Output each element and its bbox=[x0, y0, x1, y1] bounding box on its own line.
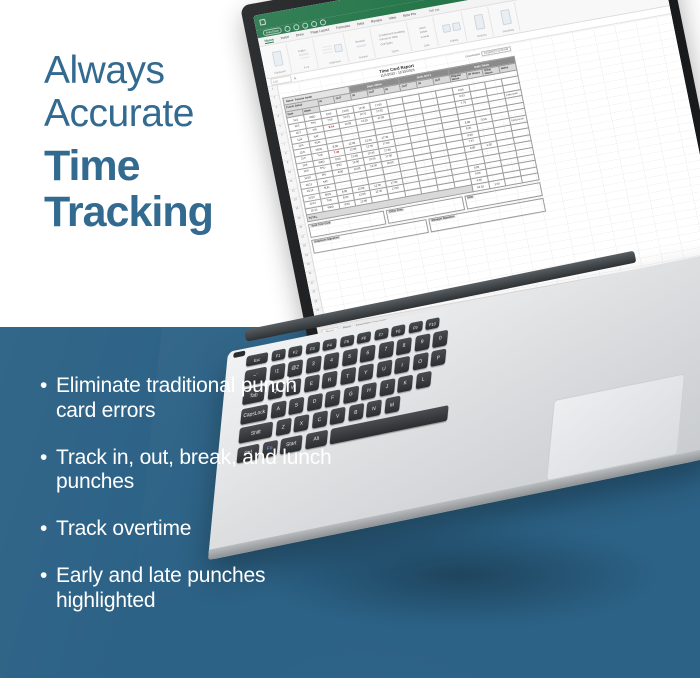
cells-controls: Insert Delete Format bbox=[417, 19, 430, 45]
list-item: • Early and late punches highlighted bbox=[40, 564, 340, 614]
tab-home[interactable]: Home bbox=[264, 37, 274, 44]
bullet-text: Track in, out, break, and lunch punches bbox=[56, 446, 340, 496]
title-bar-left bbox=[259, 18, 266, 25]
number-controls: General bbox=[353, 30, 368, 56]
headline-line-4: Tracking bbox=[44, 189, 304, 235]
key-f5[interactable]: F5 bbox=[339, 335, 354, 348]
promo-graphic: Always Accurate Time Tracking • Eliminat… bbox=[0, 0, 700, 700]
tab-view[interactable]: View bbox=[388, 15, 396, 20]
ribbon-group-label: Styles bbox=[391, 49, 399, 53]
sort-filter-button[interactable] bbox=[442, 23, 451, 32]
total-regular: 84.03 bbox=[472, 182, 490, 191]
ribbon-group-analysis: Analysis bbox=[466, 7, 495, 41]
total-notes bbox=[521, 173, 539, 182]
ribbon-group-alignment: Alignment bbox=[317, 33, 350, 67]
ribbon-group-label: Font bbox=[304, 66, 310, 70]
alignment-controls bbox=[320, 35, 345, 63]
key-9[interactable]: 9 bbox=[414, 333, 430, 352]
key-3[interactable]: 3 bbox=[305, 355, 321, 374]
tab-data[interactable]: Data bbox=[357, 21, 365, 26]
tab-insert[interactable]: Insert bbox=[280, 35, 289, 40]
ribbon-group-label: Editing bbox=[450, 39, 458, 43]
bullet-text: Track overtime bbox=[56, 517, 340, 542]
key-k[interactable]: K bbox=[397, 374, 413, 393]
key-f3[interactable]: F3 bbox=[305, 341, 320, 354]
format-cells-button[interactable]: Format bbox=[421, 34, 430, 38]
number-format-stack[interactable]: General bbox=[355, 40, 366, 48]
key-f6[interactable]: F6 bbox=[357, 331, 372, 344]
bottom-white-strip bbox=[0, 678, 700, 700]
dept-value: Office bbox=[374, 82, 382, 86]
bullet-marker-icon: • bbox=[40, 374, 56, 399]
key-f8[interactable]: F8 bbox=[391, 324, 406, 337]
number-format-buttons[interactable] bbox=[356, 44, 366, 47]
total-time-card-label: Total Time Card bbox=[310, 222, 332, 229]
key-f9[interactable]: F9 bbox=[408, 321, 423, 334]
bullet-text: Eliminate traditional punch card errors bbox=[56, 374, 340, 424]
ribbon-group-label: Sensitivity bbox=[502, 28, 514, 33]
feature-bullet-list: • Eliminate traditional punch card error… bbox=[40, 374, 340, 635]
redo-icon[interactable] bbox=[302, 22, 309, 29]
ideas-button[interactable] bbox=[500, 9, 512, 25]
key-j[interactable]: J bbox=[379, 378, 395, 397]
bullet-text: Early and late punches highlighted bbox=[56, 564, 340, 614]
ribbon-group-label: Analysis bbox=[477, 33, 487, 38]
key-p[interactable]: P bbox=[430, 348, 446, 367]
ribbon-group-number: General Number bbox=[347, 28, 376, 62]
touch-mode-icon[interactable] bbox=[311, 21, 318, 28]
key-h[interactable]: H bbox=[361, 381, 377, 400]
save-icon[interactable] bbox=[284, 25, 291, 32]
ribbon-group-label: Cells bbox=[424, 44, 430, 48]
key-i[interactable]: I bbox=[394, 356, 410, 375]
key-m[interactable]: M bbox=[384, 396, 400, 415]
tab-nitro-pro[interactable]: Nitro Pro bbox=[402, 12, 416, 18]
excel-file-icon bbox=[259, 18, 266, 25]
tab-formulas[interactable]: Formulas bbox=[336, 24, 351, 30]
bullet-marker-icon: • bbox=[40, 517, 56, 542]
undo-icon[interactable] bbox=[293, 24, 300, 31]
key-b[interactable]: B bbox=[348, 403, 364, 422]
headline-line-2: Accurate bbox=[44, 93, 304, 134]
merge-cells-button[interactable] bbox=[334, 43, 343, 52]
headline-line-1: Always bbox=[44, 50, 304, 91]
key-6[interactable]: 6 bbox=[360, 344, 376, 363]
sensitivity-controls bbox=[499, 4, 513, 30]
headline-block: Always Accurate Time Tracking bbox=[44, 50, 304, 235]
key-u[interactable]: U bbox=[376, 359, 392, 378]
key-f2[interactable]: F2 bbox=[288, 345, 303, 358]
cells-buttons[interactable]: Insert Delete Format bbox=[419, 25, 429, 38]
manager-signature-label: Manager Signature bbox=[430, 215, 456, 222]
find-select-button[interactable] bbox=[452, 21, 461, 30]
ribbon-group-sensitivity: Sensitivity bbox=[492, 2, 521, 36]
styles-controls: Conditional Formatting Format as Table C… bbox=[377, 23, 408, 52]
key-5[interactable]: 5 bbox=[341, 348, 357, 367]
laptop-port bbox=[233, 350, 245, 358]
bullet-marker-icon: • bbox=[40, 446, 56, 471]
list-item: • Eliminate traditional punch card error… bbox=[40, 374, 340, 424]
key-o[interactable]: O bbox=[412, 352, 428, 371]
tab-review[interactable]: Review bbox=[371, 18, 383, 24]
tab-draw[interactable]: Draw bbox=[296, 32, 305, 37]
shift-value: DAY1 bbox=[424, 74, 431, 78]
key-0[interactable]: 0 bbox=[432, 329, 448, 348]
list-item: • Track in, out, break, and lunch punche… bbox=[40, 446, 340, 496]
key-4[interactable]: 4 bbox=[323, 351, 339, 370]
styles-buttons[interactable]: Conditional Formatting Format as Table C… bbox=[378, 30, 406, 46]
analysis-controls bbox=[472, 9, 486, 35]
key-g[interactable]: G bbox=[343, 385, 359, 404]
dept-label: Dept: bbox=[366, 84, 373, 88]
date-label: Date bbox=[466, 196, 474, 200]
headline-line-3: Time bbox=[44, 143, 304, 189]
align-bottom-row[interactable] bbox=[323, 51, 333, 54]
total-ot: 1.50 bbox=[488, 179, 506, 188]
key-7[interactable]: 7 bbox=[378, 340, 394, 359]
editing-controls bbox=[440, 13, 463, 41]
ribbon-group-cells: Insert Delete Format Cells bbox=[410, 17, 439, 51]
tab-page-layout[interactable]: Page Layout bbox=[310, 27, 330, 34]
ribbon-group-label: Number bbox=[359, 55, 369, 60]
total-other bbox=[505, 176, 523, 185]
customize-qat-icon[interactable] bbox=[319, 19, 326, 26]
tell-me-search[interactable]: Tell me bbox=[428, 7, 439, 13]
key-l[interactable]: L bbox=[415, 370, 431, 389]
ribbon-group-styles: Conditional Formatting Format as Table C… bbox=[374, 21, 413, 56]
key-n[interactable]: N bbox=[366, 399, 382, 418]
key-t[interactable]: T bbox=[340, 367, 356, 386]
list-item: • Track overtime bbox=[40, 517, 340, 542]
key-f10[interactable]: F10 bbox=[425, 317, 440, 330]
employee-signature-label: Employee Signature bbox=[313, 236, 340, 244]
other-time-label: Other Time bbox=[388, 208, 404, 214]
align-buttons[interactable] bbox=[322, 45, 333, 54]
analyze-data-button[interactable] bbox=[473, 14, 485, 30]
bullet-marker-icon: • bbox=[40, 564, 56, 589]
key-y[interactable]: Y bbox=[358, 363, 374, 382]
key-f1[interactable]: F1 bbox=[271, 348, 286, 361]
ribbon-group-editing: Editing bbox=[437, 11, 468, 45]
key-esc[interactable]: Esc bbox=[246, 352, 269, 367]
ribbon-group-label: Alignment bbox=[329, 60, 341, 65]
key-f7[interactable]: F7 bbox=[374, 328, 389, 341]
key-8[interactable]: 8 bbox=[396, 336, 412, 355]
key-f4[interactable]: F4 bbox=[322, 338, 337, 351]
